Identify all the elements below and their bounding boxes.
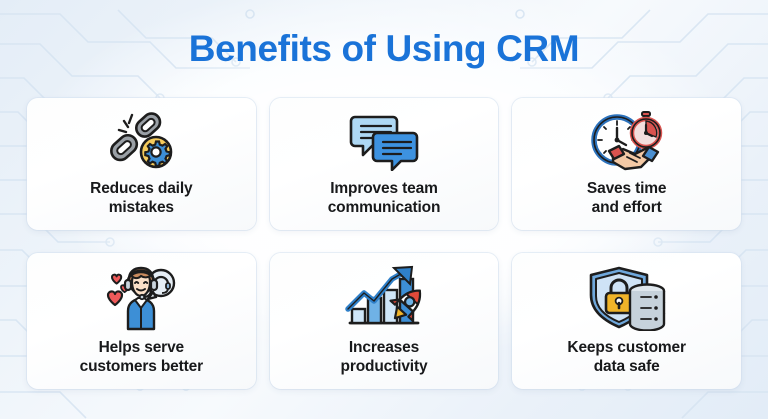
benefit-card-label: Keeps customer data safe — [559, 338, 694, 376]
benefit-card-keeps-customer-data-safe[interactable]: Keeps customer data safe — [512, 253, 741, 389]
benefits-grid: Reduces daily mistakes — [27, 98, 741, 389]
icon-container — [347, 107, 421, 173]
benefit-label-line-2: and effort — [587, 198, 667, 217]
benefit-card-label: Saves time and effort — [579, 179, 675, 217]
icon-container — [98, 262, 184, 334]
shield-lock-database-icon — [585, 265, 669, 331]
benefit-label-line-1: Keeps customer — [567, 338, 686, 357]
benefit-card-improves-team-communication[interactable]: Improves team communication — [270, 98, 499, 230]
bar-chart-rocket-icon — [342, 265, 426, 331]
benefit-card-label: Increases productivity — [333, 338, 436, 376]
broken-chain-gear-icon — [104, 109, 178, 171]
benefit-label-line-1: Improves team — [328, 179, 441, 198]
benefit-card-label: Helps serve customers better — [72, 338, 211, 376]
benefit-label-line-2: customers better — [80, 357, 203, 376]
benefit-label-line-2: productivity — [341, 357, 428, 376]
support-agent-headset-icon — [98, 265, 184, 331]
speech-bubbles-icon — [347, 109, 421, 171]
clock-stopwatch-handshake-icon — [587, 109, 667, 171]
benefit-card-increases-productivity[interactable]: Increases productivity — [270, 253, 499, 389]
icon-container — [587, 107, 667, 173]
benefit-card-helps-serve-customers-better[interactable]: Helps serve customers better — [27, 253, 256, 389]
benefit-label-line-1: Increases — [341, 338, 428, 357]
benefit-label-line-2: data safe — [567, 357, 686, 376]
benefit-card-reduces-daily-mistakes[interactable]: Reduces daily mistakes — [27, 98, 256, 230]
benefit-card-saves-time-and-effort[interactable]: Saves time and effort — [512, 98, 741, 230]
benefit-label-line-2: communication — [328, 198, 441, 217]
icon-container — [342, 262, 426, 334]
benefit-label-line-1: Reduces daily — [90, 179, 192, 198]
benefit-label-line-1: Saves time — [587, 179, 667, 198]
icon-container — [585, 262, 669, 334]
benefit-label-line-1: Helps serve — [80, 338, 203, 357]
benefit-label-line-2: mistakes — [90, 198, 192, 217]
infographic-poster: Benefits of Using CRM — [0, 0, 768, 419]
page-title: Benefits of Using CRM — [0, 27, 768, 71]
benefit-card-label: Improves team communication — [320, 179, 449, 217]
icon-container — [104, 107, 178, 173]
benefit-card-label: Reduces daily mistakes — [82, 179, 200, 217]
